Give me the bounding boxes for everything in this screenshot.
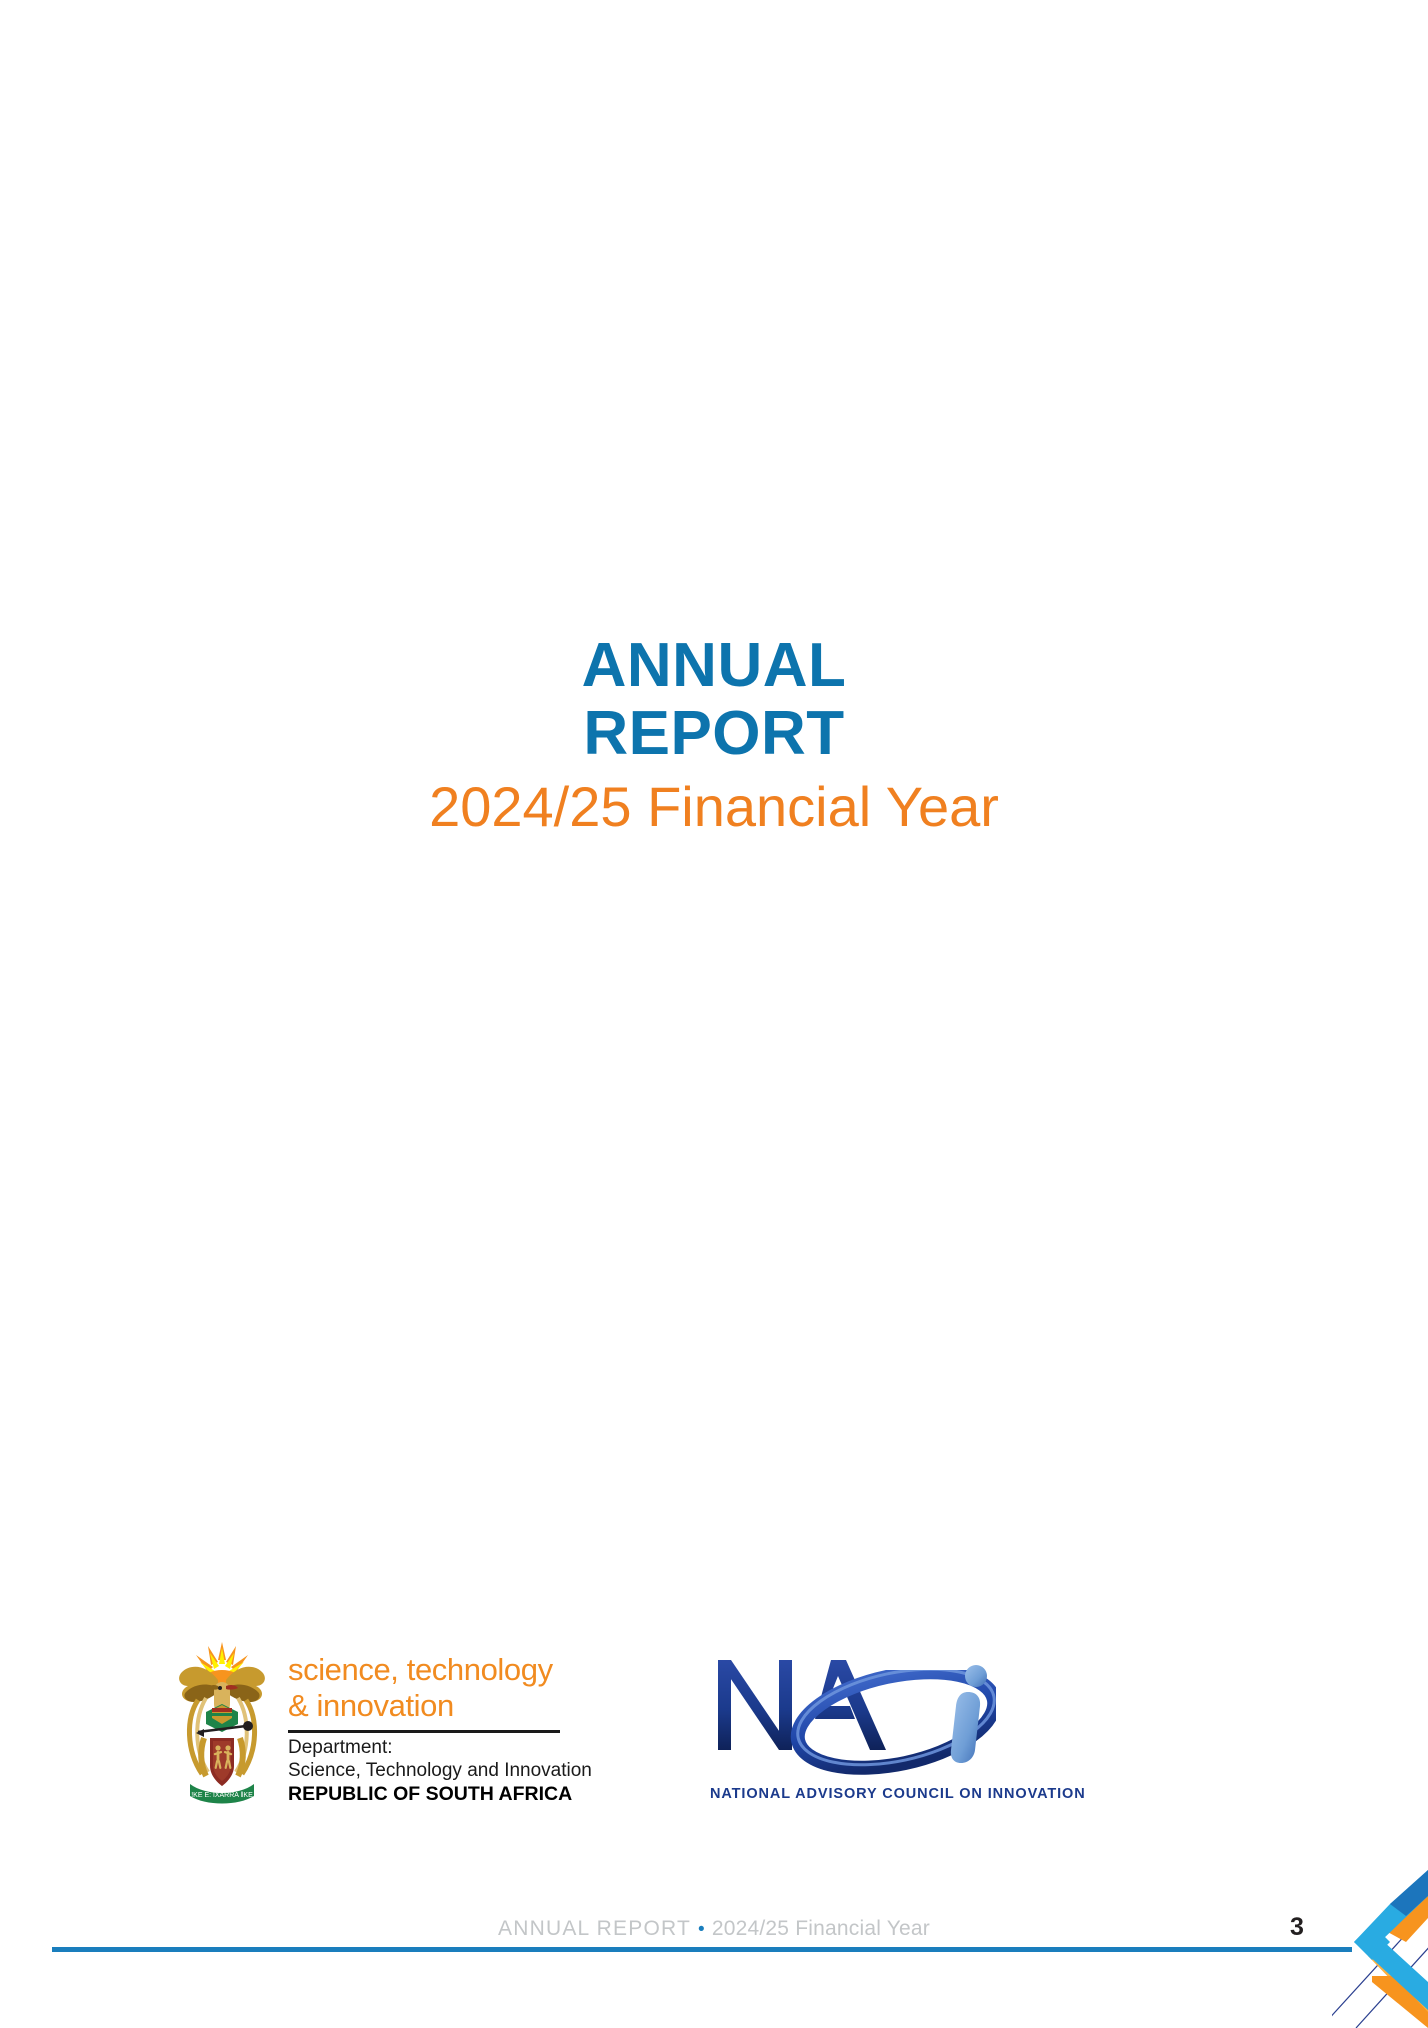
naci-tagline: NATIONAL ADVISORY COUNCIL ON INNOVATION [710,1786,1010,1802]
corner-decoration-icon [1332,1870,1428,2028]
page-canvas: ANNUAL REPORT 2024/25 Financial Year [0,0,1428,2028]
footer-divider [52,1947,1352,1952]
dsti-wordmark-line-1: science, technology [288,1652,592,1688]
page-title-line-2: REPORT [0,700,1428,768]
page-number: 3 [1290,1913,1304,1942]
cover-title-block: ANNUAL REPORT 2024/25 Financial Year [0,632,1428,846]
footer-separator: • [691,1919,712,1940]
dsti-country-label: REPUBLIC OF SOUTH AFRICA [288,1782,592,1806]
dsti-divider [288,1730,560,1733]
footer-year-label: 2024/25 Financial Year [712,1917,930,1940]
dsti-wordmark-line-2: & innovation [288,1688,592,1724]
dsti-text-block: science, technology & innovation Departm… [288,1638,592,1806]
naci-wordmark-icon [700,1646,1010,1786]
dsti-department-name: Science, Technology and Innovation [288,1759,592,1782]
dsti-logo: !KE E: ǀXARRA ǁKE science, technology & … [168,1638,568,1818]
page-title-line-1: ANNUAL [0,632,1428,700]
svg-text:!KE E: ǀXARRA ǁKE: !KE E: ǀXARRA ǁKE [191,1792,253,1799]
page-subtitle: 2024/25 Financial Year [0,768,1428,846]
footer-text: ANNUAL REPORT•2024/25 Financial Year [0,1917,1428,1941]
logo-row: !KE E: ǀXARRA ǁKE science, technology & … [0,1638,1428,1828]
south-african-coat-of-arms-icon: !KE E: ǀXARRA ǁKE [168,1638,276,1808]
footer-report-label: ANNUAL REPORT [498,1917,691,1940]
dsti-department-label: Department: [288,1736,592,1759]
naci-logo: NATIONAL ADVISORY COUNCIL ON INNOVATION [700,1646,1020,1821]
